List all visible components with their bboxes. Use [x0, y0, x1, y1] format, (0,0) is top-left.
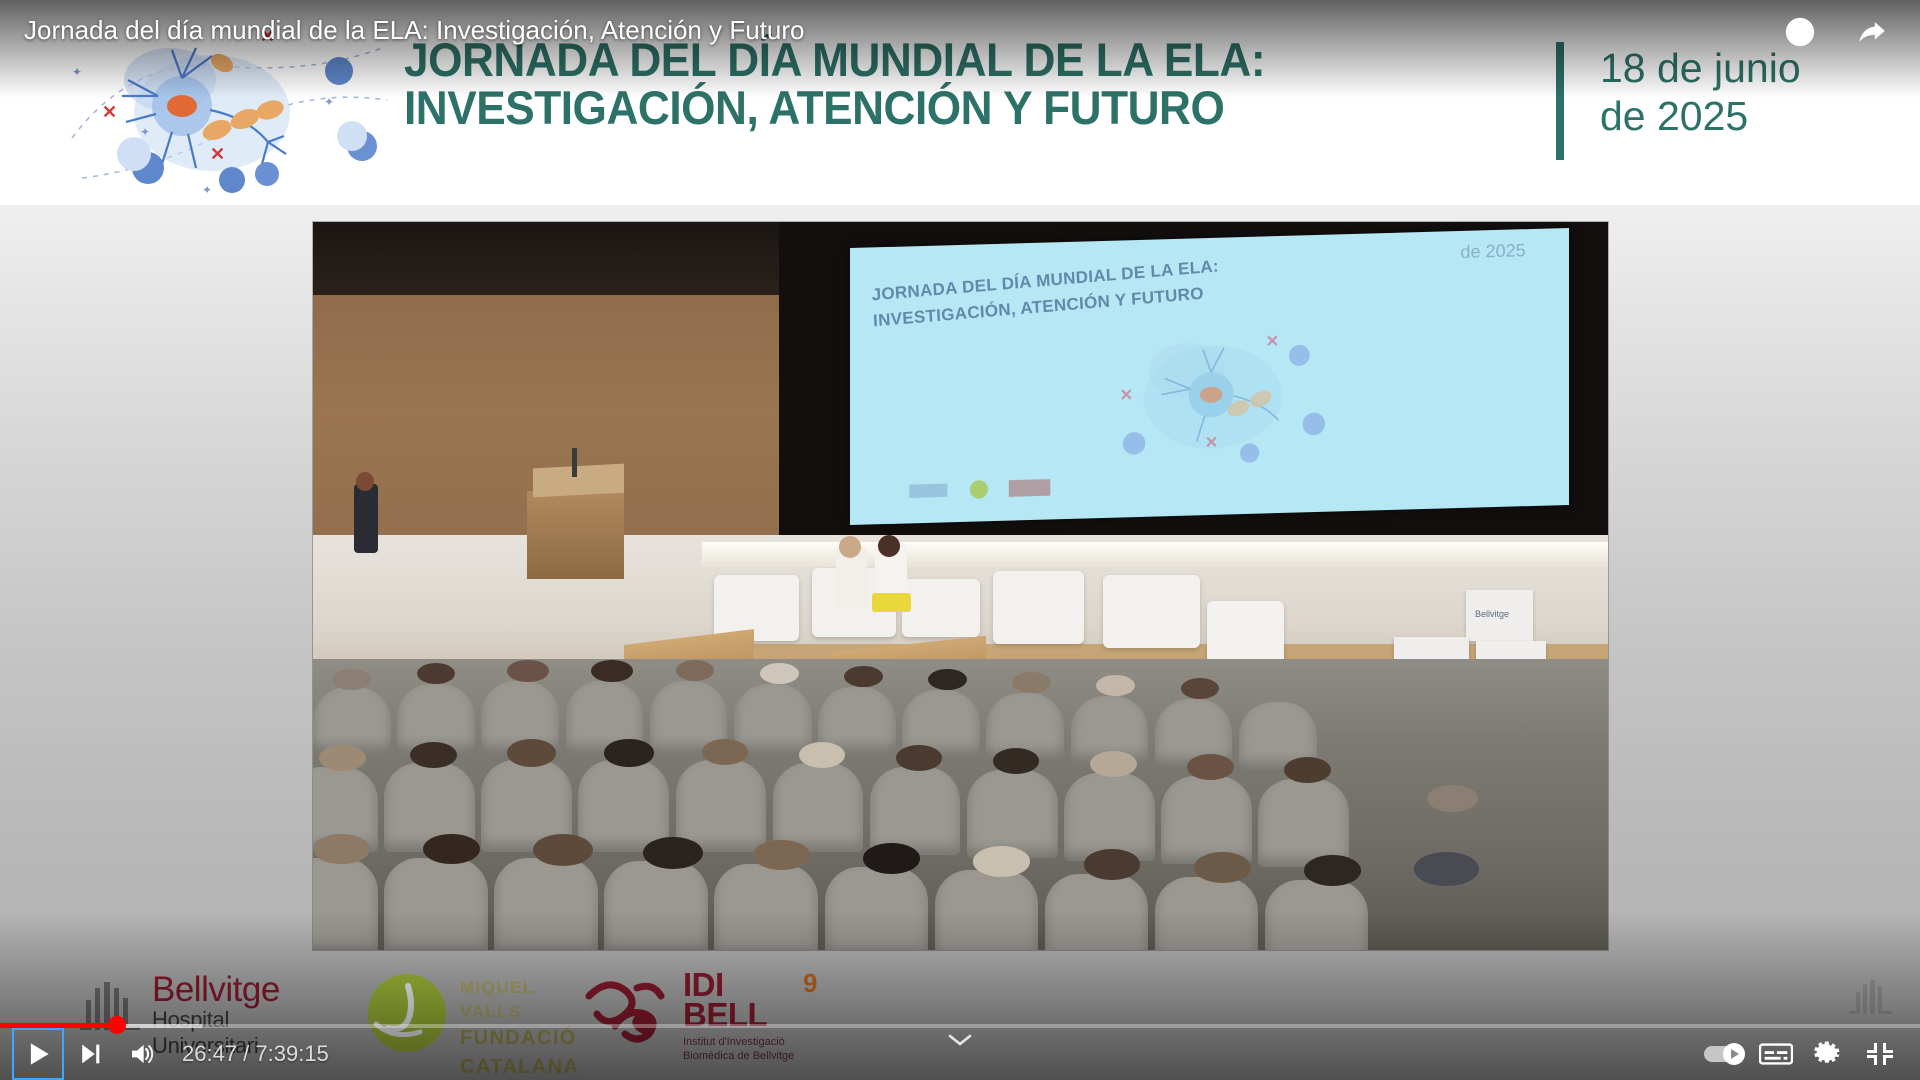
volume-icon[interactable]	[116, 1028, 168, 1080]
svg-text:✦: ✦	[72, 65, 82, 79]
speaker-head	[878, 535, 900, 557]
branded-cube: Bellvitge	[1466, 590, 1533, 641]
poster-banner-line2: INVESTIGACIÓN, ATENCIÓN Y FUTURO	[404, 84, 1476, 132]
stage-side-table	[902, 579, 980, 637]
video-title: Jornada del día mundial de la ELA: Inves…	[24, 15, 804, 46]
play-button[interactable]	[12, 1028, 64, 1080]
banner-date-line2: de 2025	[1600, 92, 1900, 140]
microphone	[572, 448, 577, 477]
settings-gear-icon[interactable]	[1802, 1028, 1854, 1080]
podium-top	[533, 463, 624, 497]
logo-idibell: IDI BELL 9 Institut d'Investigació Biomè…	[575, 968, 835, 1064]
svg-text:✦: ✦	[324, 95, 334, 109]
presenter-head	[356, 472, 374, 491]
idibell-subtitle: Institut d'Investigació Biomèdica de Bel…	[683, 1036, 794, 1064]
cube-label: Bellvitge	[1475, 609, 1509, 619]
projection-screen: JORNADA DEL DÍA MUNDIAL DE LA ELA: INVES…	[850, 228, 1569, 525]
svg-text:✦: ✦	[140, 125, 150, 139]
idibell-mark-icon	[575, 972, 675, 1046]
slide-date: de 2025	[1461, 240, 1526, 263]
slide-neuron-illustration: ✕✕✕	[1052, 316, 1375, 485]
stage-armchair	[993, 571, 1084, 644]
banner-divider	[1556, 42, 1564, 160]
stage-armchair	[714, 575, 798, 641]
stage-armchair	[1103, 575, 1200, 648]
poster-banner-date: 18 de junio de 2025	[1600, 44, 1900, 141]
svg-text:✕: ✕	[1205, 433, 1218, 451]
share-icon[interactable]	[1850, 10, 1894, 54]
watch-later-icon[interactable]	[1778, 10, 1822, 54]
presenter-person	[354, 484, 377, 553]
audience-seating	[313, 644, 1608, 950]
subtitles-icon[interactable]	[1750, 1028, 1802, 1080]
time-display: 26:47 / 7:39:15	[168, 1041, 343, 1067]
svg-text:✦: ✦	[202, 183, 212, 197]
poster-banner-title: JORNADA DEL DÍA MUNDIAL DE LA ELA: INVES…	[404, 36, 1476, 132]
speaker-skirt	[872, 593, 911, 612]
bellvitge-title: Bellvitge	[152, 970, 280, 1010]
controls-right[interactable]	[1698, 1028, 1906, 1080]
exit-fullscreen-icon[interactable]	[1854, 1028, 1906, 1080]
autoplay-toggle[interactable]	[1698, 1028, 1750, 1080]
idibell-subtitle-line1: Institut d'Investigació	[683, 1036, 794, 1050]
controls-left[interactable]: 26:47 / 7:39:15	[12, 1028, 343, 1080]
svg-text:✕: ✕	[1266, 332, 1279, 350]
idibell-subtitle-line2: Biomèdica de Bellvitge	[683, 1050, 794, 1064]
fcela-swoosh-icon	[368, 974, 446, 1052]
idibell-accent-glyph: 9	[803, 968, 817, 999]
top-actions[interactable]	[1778, 10, 1894, 54]
svg-text:✕: ✕	[1120, 386, 1133, 404]
chevron-down-icon[interactable]	[947, 1032, 973, 1048]
podium	[527, 491, 624, 578]
slide-logos	[872, 468, 1195, 510]
logo-fundacio-catalana-ela: MIQUEL VALLS FUNDACIÓ CATALANA D'ELA	[368, 968, 598, 1056]
poster-background: ✕✕✕ ✦✦✦✦ JORNADA DEL DÍA MUNDIAL DE LA E…	[0, 0, 1920, 1080]
svg-text:✕: ✕	[102, 102, 117, 122]
corner-bars-icon	[1848, 980, 1898, 1020]
video-frame: JORNADA DEL DÍA MUNDIAL DE LA ELA: INVES…	[313, 222, 1608, 950]
video-player[interactable]: ✕✕✕ ✦✦✦✦ JORNADA DEL DÍA MUNDIAL DE LA E…	[0, 0, 1920, 1080]
svg-text:✕: ✕	[210, 144, 225, 164]
next-video-button[interactable]	[64, 1028, 116, 1080]
speaker-head	[839, 536, 861, 558]
